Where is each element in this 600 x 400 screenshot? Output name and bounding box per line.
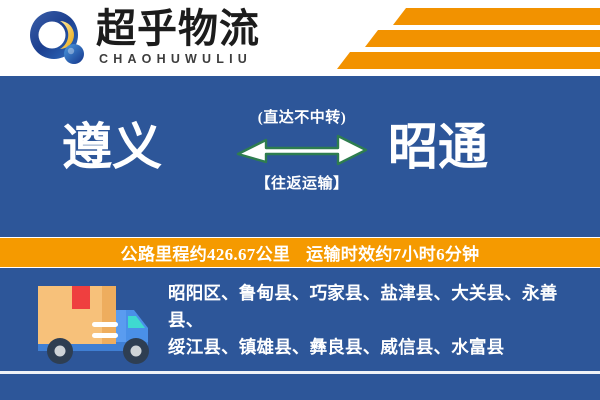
logistics-route-banner: 超乎物流 CHAOHUWULIU 遵义 (直达不中转) 【往返运输】 昭通 公路… (0, 0, 600, 400)
coverage-line-1: 昭阳区、鲁甸县、巧家县、盐津县、大关县、永善县、 (168, 280, 588, 334)
stripe-1 (393, 8, 600, 25)
duration-text: 运输时效约7小时6分钟 (306, 240, 479, 265)
distance-text: 公路里程约426.67公里 (121, 240, 291, 265)
brand-name-cn: 超乎物流 (96, 6, 260, 52)
delivery-truck-icon (18, 278, 154, 373)
ground-line (0, 371, 600, 374)
stripe-2 (365, 30, 600, 47)
brand-name-en: CHAOHUWULIU (99, 52, 252, 66)
roundtrip-tag: 【往返运输】 (232, 172, 372, 193)
direct-service-note: (直达不中转) (232, 106, 372, 127)
route-panel: 遵义 (直达不中转) 【往返运输】 昭通 (0, 76, 600, 237)
decorative-stripes (332, 6, 600, 72)
coverage-area-list: 昭阳区、鲁甸县、巧家县、盐津县、大关县、永善县、 绥江县、镇雄县、彝良县、威信县… (168, 280, 588, 361)
route-middle-group: (直达不中转) 【往返运输】 (232, 106, 372, 193)
origin-city: 遵义 (62, 118, 162, 176)
route-info-bar: 公路里程约426.67公里 运输时效约7小时6分钟 (0, 238, 600, 267)
destination-city: 昭通 (388, 118, 488, 176)
coverage-line-2: 绥江县、镇雄县、彝良县、威信县、水富县 (168, 334, 588, 361)
banner-header: 超乎物流 CHAOHUWULIU (0, 0, 600, 76)
stripe-3 (337, 52, 600, 69)
coverage-panel: 昭阳区、鲁甸县、巧家县、盐津县、大关县、永善县、 绥江县、镇雄县、彝良县、威信县… (0, 268, 600, 400)
bidirectional-arrow-icon (236, 132, 368, 168)
chaohu-circle-logo-icon (27, 9, 87, 69)
